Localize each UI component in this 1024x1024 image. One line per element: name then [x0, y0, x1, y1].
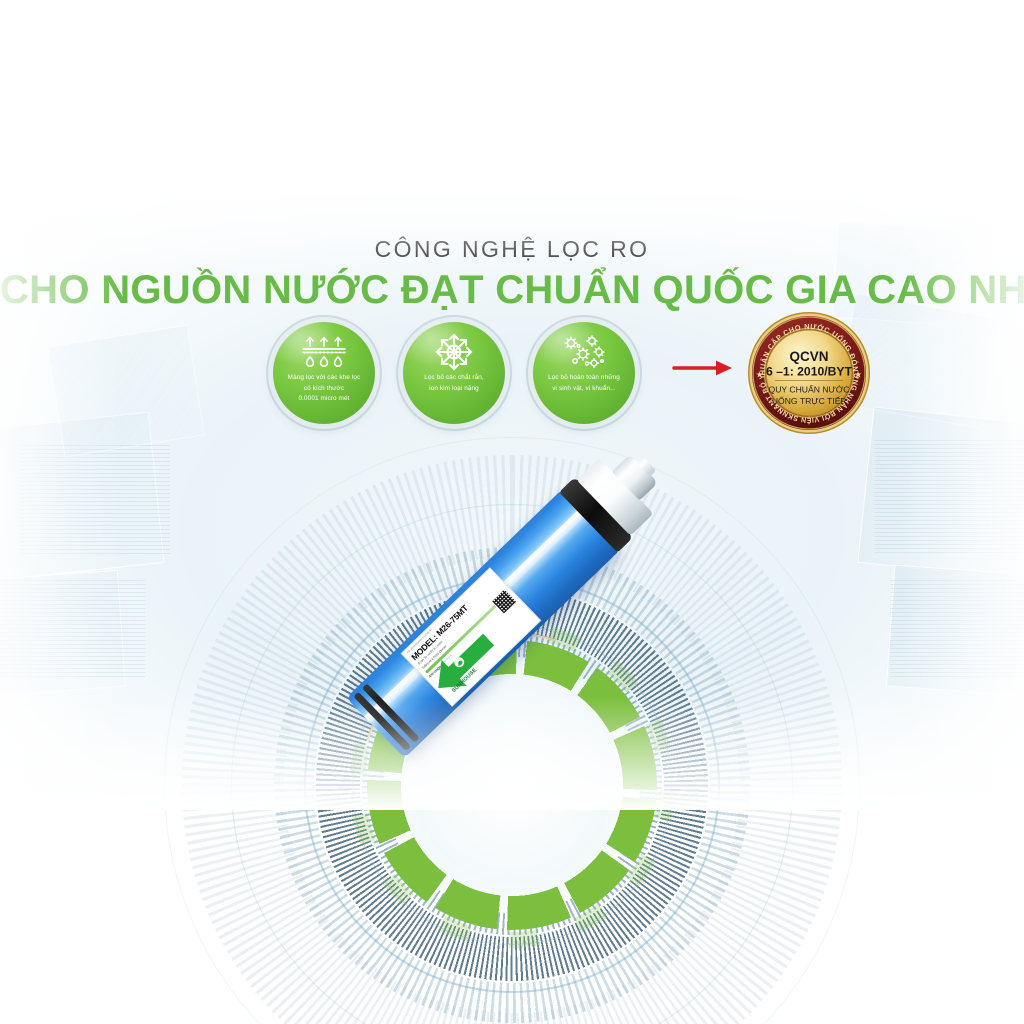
seal-sub-1: QUY CHUẨN NƯỚC [769, 384, 850, 395]
badge-line-2: ion kim loại nặng [421, 384, 487, 395]
seal-sub-2: UỐNG TRỰC TIẾP [772, 395, 847, 406]
tech-stripes [890, 580, 1024, 680]
tech-stripes [20, 445, 170, 555]
badge-line-1: Lọc bỏ hoàn toàn những [540, 373, 628, 384]
qcvn-certification-seal[interactable]: QUY CHUẨN CẤP CHO NƯỚC UỐNG ĐÓNG CHAI CH… [747, 311, 871, 435]
badge-line-3: 0.0001 micro mét [291, 394, 358, 405]
badge-line-1: Lọc bỏ các chất rắn, [416, 373, 492, 384]
feature-badge-filter-size[interactable]: Màng lọc với các khe lọc có kích thước 0… [273, 322, 375, 424]
feature-badge-bacteria[interactable]: Lọc bỏ hoàn toàn những vi sinh vật, vi k… [533, 322, 635, 424]
tech-stripes [875, 440, 1024, 555]
badge-line-2: vi sinh vật, vi khuẩn... [544, 384, 624, 395]
seal-code: 6 –1: 2010/BYT [766, 365, 853, 379]
page-title: CHO NGUỒN NƯỚC ĐẠT CHUẨN QUỐC GIA CAO NH… [0, 268, 1024, 313]
droplets-filter-icon [301, 335, 347, 369]
seal-title: QCVN [789, 349, 828, 364]
product-infographic: CÔNG NGHỆ LỌC RO CHO NGUỒN NƯỚC ĐẠT CHUẨ… [0, 0, 1024, 1024]
seal-star-right: ★ [854, 371, 862, 381]
feature-badge-minerals[interactable]: Lọc bỏ các chất rắn, ion kim loại nặng [403, 322, 505, 424]
mineral-crystal-icon [434, 335, 474, 369]
page-kicker: CÔNG NGHỆ LỌC RO [0, 236, 1024, 263]
tech-panel [47, 325, 205, 458]
badge-line-2: có kích thước [296, 384, 352, 395]
seal-star-left: ★ [756, 371, 764, 381]
tech-stripes [0, 580, 145, 680]
badge-line-1: Màng lọc với các khe lọc [280, 373, 369, 384]
arrow-right-icon [672, 357, 734, 379]
bacteria-icon [561, 335, 607, 369]
